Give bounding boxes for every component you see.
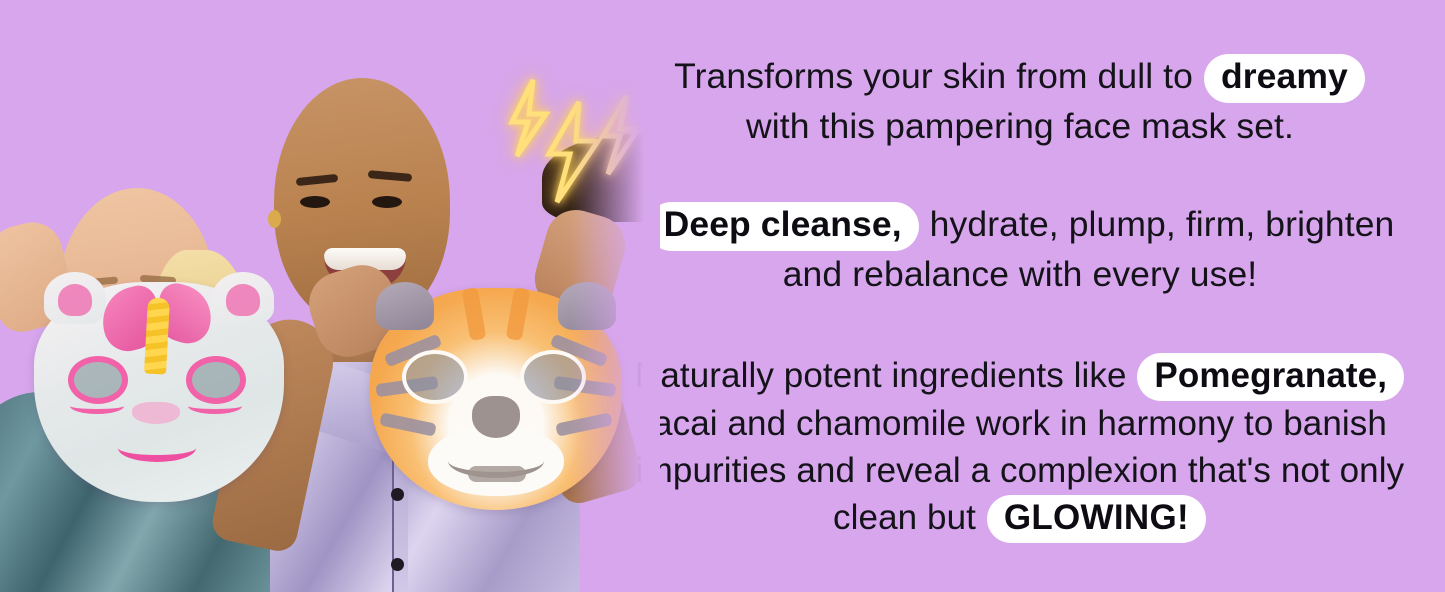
p1-text-before: Transforms your skin from dull to [674,56,1203,96]
tiger-sheet-mask [370,288,622,510]
model-dark-hair-earring [268,210,281,228]
tiger-ear-right [558,282,616,330]
unicorn-mouth [118,434,196,462]
tiger-stripe [555,412,612,436]
tiger-ear-left [376,282,434,330]
tiger-forehead-stripe [506,287,531,341]
unicorn-lash-left [70,398,124,414]
tiger-nose [472,396,520,438]
highlight-deep-cleanse: Deep cleanse, [647,202,919,251]
p2-text-after: hydrate, plump, firm, brighten [920,204,1395,244]
p3-line4-before: clean but [833,498,986,537]
paragraph-2: Deep cleanse, hydrate, plump, firm, brig… [620,201,1420,297]
paragraph-3-line-1: Naturally potent ingredients like Pomegr… [620,353,1420,401]
p3-text-before: Naturally potent ingredients like [635,356,1136,395]
promo-banner: Transforms your skin from dull to dreamy… [0,0,1445,592]
tiger-eye-left [402,350,468,404]
pajama-button [391,488,404,501]
highlight-pomegranate: Pomegranate, [1137,353,1404,401]
unicorn-eye-right [186,356,246,404]
unicorn-horn [144,297,170,374]
tiger-stripe [379,412,436,436]
model-dark-hair-eye-left [300,196,330,208]
unicorn-ear-right [212,272,274,324]
paragraph-2-line-2: and rebalance with every use! [620,251,1420,297]
paragraph-1-line-2: with this pampering face mask set. [620,103,1420,149]
highlight-glowing: GLOWING! [987,495,1206,543]
tiger-eye-right [520,350,586,404]
paragraph-1-line-1: Transforms your skin from dull to dreamy [620,53,1420,103]
unicorn-nose [132,402,180,424]
highlight-dreamy: dreamy [1204,54,1365,103]
unicorn-sheet-mask [34,282,284,502]
paragraph-1: Transforms your skin from dull to dreamy… [620,53,1420,149]
paragraph-3-line-3: impurities and reveal a complexion that'… [620,448,1420,495]
paragraph-3: Naturally potent ingredients like Pomegr… [620,353,1420,543]
marketing-copy: Transforms your skin from dull to dreamy… [620,0,1420,592]
paragraph-3-line-2: acai and chamomile work in harmony to ba… [620,401,1420,448]
paragraph-2-line-1: Deep cleanse, hydrate, plump, firm, brig… [620,201,1420,251]
paragraph-3-line-4: clean but GLOWING! [620,495,1420,543]
tiger-chin [468,466,526,482]
unicorn-ear-left [44,272,106,324]
unicorn-eye-left [68,356,128,404]
lightning-bolt-2-icon [549,102,598,202]
tiger-forehead-stripe [462,287,487,341]
lightning-bolt-1-icon [512,80,546,156]
model-dark-hair-eye-right [372,196,402,208]
unicorn-lash-right [188,398,242,414]
pajama-button [391,558,404,571]
